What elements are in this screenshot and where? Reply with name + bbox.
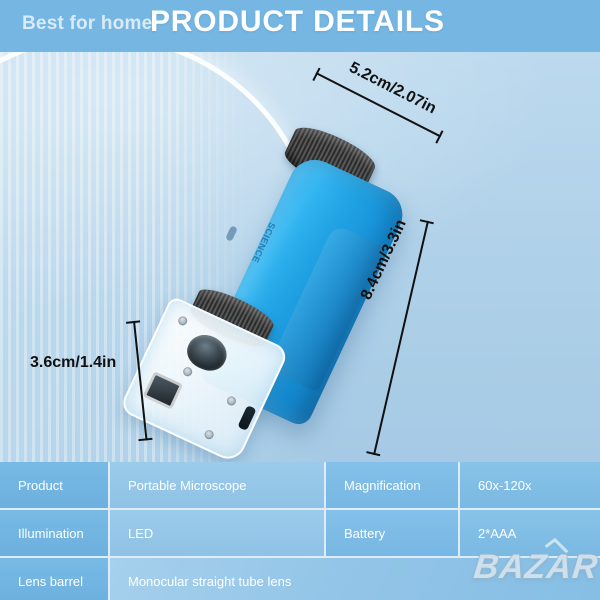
brand-tagline: Best for home: [22, 13, 152, 35]
hero-scene: SCIENCE 5.2cm/2.07in 8.4cm/3.3in 3.6cm/1…: [0, 52, 600, 462]
spec-value-product: Portable Microscope: [110, 462, 324, 508]
spec-value-illumination: LED: [110, 510, 324, 556]
slide-clip: [143, 371, 184, 410]
page-title: PRODUCT DETAILS: [150, 5, 445, 39]
screw-icon: [182, 366, 194, 378]
spec-key-lens-barrel: Lens barrel: [0, 558, 108, 600]
screw-icon: [177, 315, 189, 327]
header-band: Best for home PRODUCT DETAILS: [0, 0, 600, 52]
screw-icon: [203, 429, 215, 441]
product-details-page: Best for home PRODUCT DETAILS SCIENCE: [0, 0, 600, 600]
screw-icon: [225, 395, 237, 407]
spec-value-magnification: 60x-120x: [460, 462, 600, 508]
spec-value-lens-barrel: Monocular straight tube lens: [110, 558, 600, 600]
spec-key-illumination: Illumination: [0, 510, 108, 556]
spec-key-product: Product: [0, 462, 108, 508]
spec-key-magnification: Magnification: [326, 462, 458, 508]
product-microscope: SCIENCE: [146, 130, 396, 462]
spec-value-battery: 2*AAA: [460, 510, 600, 556]
body-slot: [225, 225, 238, 242]
spec-table: Product Portable Microscope Magnificatio…: [0, 462, 600, 600]
spec-key-battery: Battery: [326, 510, 458, 556]
dimension-label-depth: 3.6cm/1.4in: [30, 354, 116, 372]
